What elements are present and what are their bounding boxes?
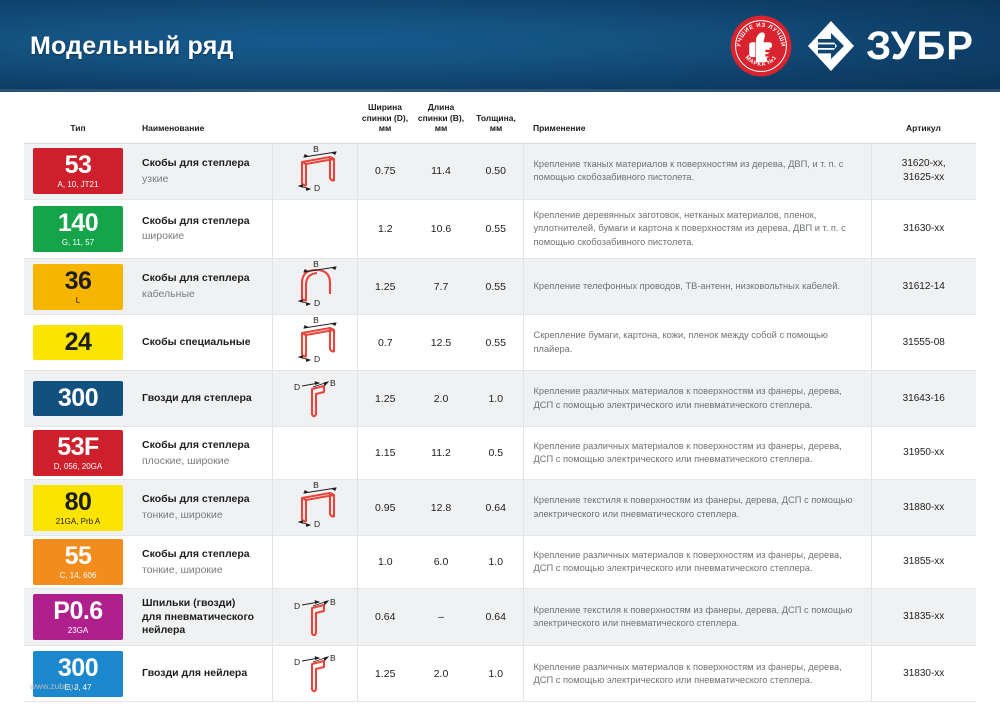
cell-thickness: 1.0 xyxy=(469,646,523,702)
svg-text:B: B xyxy=(330,597,336,607)
cell-article: 31612-14 xyxy=(871,259,976,315)
table-row[interactable]: 36LСкобы для степлеракабельные B D 1.257… xyxy=(24,259,976,315)
type-badge-aliases: A, 10, JT21 xyxy=(58,181,99,189)
type-badge-aliases: 21GA, Prb A xyxy=(56,518,100,526)
page-title: Модельный ряд xyxy=(30,32,234,61)
cell-diagram xyxy=(272,199,357,258)
cell-length: 7.7 xyxy=(413,259,469,315)
article-line: 31835-xx xyxy=(872,610,977,625)
product-name: Гвозди для степлера xyxy=(142,392,266,406)
col-header-thickness-line1: Толщина, xyxy=(473,113,519,124)
type-badge-number: 300 xyxy=(58,656,98,681)
table-body: 53A, 10, JT21Скобы для степлераузкие B D… xyxy=(24,143,976,702)
cell-length: – xyxy=(413,589,469,646)
cell-length: 2.0 xyxy=(413,646,469,702)
product-name-line: для пневматического xyxy=(142,611,266,625)
svg-text:B: B xyxy=(313,482,319,490)
cell-name: Гвозди для нейлера xyxy=(132,646,272,702)
table-row[interactable]: 300Гвозди для степлера D B 1.252.01.0Кре… xyxy=(24,371,976,427)
cell-article: 31880-xx xyxy=(871,480,976,536)
cell-width: 1.2 xyxy=(357,199,413,258)
svg-text:D: D xyxy=(314,298,320,307)
product-subtitle: широкие xyxy=(142,229,266,243)
article-line: 31630-xx xyxy=(872,222,977,237)
cell-thickness: 0.50 xyxy=(469,143,523,199)
cell-name: Шпильки (гвозди)для пневматическогонейле… xyxy=(132,589,272,646)
col-header-width-line1: Ширина xyxy=(361,102,409,113)
product-subtitle: кабельные xyxy=(142,287,266,301)
cell-width: 1.25 xyxy=(357,259,413,315)
product-name: Скобы для степлера xyxy=(142,439,266,453)
best-of-the-best-emblem-icon: ЛУЧШИЕ ИЗ ЛУЧШИХ МАРКА №1 xyxy=(730,15,792,77)
article-line: 31620-xx, xyxy=(872,157,977,172)
col-header-length-line1: Длина xyxy=(417,102,465,113)
type-badge-aliases: G, 11, 57 xyxy=(62,239,94,247)
cell-type: 300E, J, 47 xyxy=(24,646,132,702)
col-header-type: Тип xyxy=(24,92,132,143)
cell-length: 10.6 xyxy=(413,199,469,258)
table-row[interactable]: 24Скобы специальные B D 0.712.50.55Скреп… xyxy=(24,315,976,371)
type-badge: 24 xyxy=(33,325,123,360)
table-row[interactable]: 140G, 11, 57Скобы для степлераширокие1.2… xyxy=(24,199,976,258)
col-header-width: Ширина спинки (D), мм xyxy=(357,92,413,143)
type-badge-number: 80 xyxy=(65,490,92,515)
cell-type: 55C, 14, 606 xyxy=(24,536,132,589)
cell-length: 11.4 xyxy=(413,143,469,199)
type-badge: 53FD, 056, 20GA xyxy=(33,430,123,476)
cell-application: Крепление телефонных проводов, ТВ-антенн… xyxy=(523,259,871,315)
type-badge-number: 140 xyxy=(58,211,98,236)
cell-diagram: B D xyxy=(272,259,357,315)
type-badge-number: P0.6 xyxy=(53,599,102,624)
cell-thickness: 0.64 xyxy=(469,480,523,536)
svg-text:B: B xyxy=(313,146,319,154)
col-header-length-line2: спинки (B), мм xyxy=(417,113,465,134)
product-subtitle: тонкие, широкие xyxy=(142,563,266,577)
col-header-name: Наименование xyxy=(132,92,272,143)
table-row[interactable]: 53FD, 056, 20GAСкобы для степлераплоские… xyxy=(24,427,976,480)
cell-width: 1.0 xyxy=(357,536,413,589)
col-header-width-line2: спинки (D), мм xyxy=(361,113,409,134)
type-badge-number: 53 xyxy=(65,153,92,178)
cell-application: Крепление тканых материалов к поверхност… xyxy=(523,143,871,199)
type-badge-number: 55 xyxy=(65,544,92,569)
cell-type: 24 xyxy=(24,315,132,371)
type-badge: 140G, 11, 57 xyxy=(33,206,123,252)
cell-width: 1.25 xyxy=(357,646,413,702)
cell-type: 53FD, 056, 20GA xyxy=(24,427,132,480)
cell-width: 1.25 xyxy=(357,371,413,427)
article-line: 31950-xx xyxy=(872,446,977,461)
staple-round-icon: B D xyxy=(286,261,344,307)
cell-type: 53A, 10, JT21 xyxy=(24,143,132,199)
cell-type: 140G, 11, 57 xyxy=(24,199,132,258)
product-subtitle: узкие xyxy=(142,172,266,186)
cell-width: 0.95 xyxy=(357,480,413,536)
cell-length: 6.0 xyxy=(413,536,469,589)
cell-width: 0.75 xyxy=(357,143,413,199)
cell-article: 31620-xx,31625-xx xyxy=(871,143,976,199)
cell-name: Гвозди для степлера xyxy=(132,371,272,427)
article-line: 31830-xx xyxy=(872,667,977,682)
type-badge-aliases: C, 14, 606 xyxy=(60,572,97,580)
table-row[interactable]: 300E, J, 47Гвозди для нейлера D B 1.252.… xyxy=(24,646,976,702)
svg-text:D: D xyxy=(294,382,300,392)
product-name: Скобы для степлера xyxy=(142,548,266,562)
zubr-wordmark: ЗУБР xyxy=(806,19,974,73)
type-badge: 36L xyxy=(33,264,123,310)
cell-width: 0.7 xyxy=(357,315,413,371)
svg-text:B: B xyxy=(330,378,336,388)
product-name: Скобы для степлера xyxy=(142,272,266,286)
zubr-brand-text: ЗУБР xyxy=(866,26,974,66)
staple-square-icon: B D xyxy=(286,317,344,363)
cell-name: Скобы для степлеракабельные xyxy=(132,259,272,315)
footer-url: www.zubr.ru xyxy=(30,681,76,691)
svg-text:B: B xyxy=(313,317,319,325)
product-name: Гвозди для нейлера xyxy=(142,667,266,681)
cell-thickness: 1.0 xyxy=(469,371,523,427)
cell-length: 12.8 xyxy=(413,480,469,536)
table-row[interactable]: 55C, 14, 606Скобы для степлератонкие, ши… xyxy=(24,536,976,589)
svg-text:D: D xyxy=(314,354,320,363)
type-badge-number: 24 xyxy=(65,330,92,355)
cell-thickness: 0.64 xyxy=(469,589,523,646)
cell-application: Крепление текстиля к поверхностям из фан… xyxy=(523,480,871,536)
cell-diagram: D B xyxy=(272,589,357,646)
cell-diagram: D B xyxy=(272,371,357,427)
nail-icon: D B xyxy=(286,373,344,419)
cell-name: Скобы для степлератонкие, широкие xyxy=(132,480,272,536)
cell-type: P0.623GA xyxy=(24,589,132,646)
type-badge: 8021GA, Prb A xyxy=(33,485,123,531)
type-badge: 53A, 10, JT21 xyxy=(33,148,123,194)
product-name: Шпильки (гвозди)для пневматическогонейле… xyxy=(142,597,266,638)
svg-text:D: D xyxy=(294,601,300,611)
cell-article: 31830-xx xyxy=(871,646,976,702)
cell-type: 300 xyxy=(24,371,132,427)
cell-diagram: B D xyxy=(272,143,357,199)
cell-diagram: B D xyxy=(272,315,357,371)
type-badge-number: 53F xyxy=(57,435,99,460)
cell-name: Скобы для степлераплоские, широкие xyxy=(132,427,272,480)
page-header: Модельный ряд ЛУЧШИЕ ИЗ ЛУЧШИХ МАРКА №1 xyxy=(0,0,1000,92)
cell-thickness: 0.55 xyxy=(469,315,523,371)
cell-type: 36L xyxy=(24,259,132,315)
cell-thickness: 1.0 xyxy=(469,536,523,589)
cell-length: 12.5 xyxy=(413,315,469,371)
cell-name: Скобы специальные xyxy=(132,315,272,371)
product-name: Скобы для степлера xyxy=(142,157,266,171)
table-row[interactable]: 53A, 10, JT21Скобы для степлераузкие B D… xyxy=(24,143,976,199)
cell-article: 31855-xx xyxy=(871,536,976,589)
type-badge-aliases: L xyxy=(76,297,80,305)
cell-diagram xyxy=(272,427,357,480)
product-name: Скобы специальные xyxy=(142,336,266,350)
product-name-line: Шпильки (гвозди) xyxy=(142,597,266,611)
cell-diagram: D B xyxy=(272,646,357,702)
product-name: Скобы для степлера xyxy=(142,493,266,507)
cell-width: 0.64 xyxy=(357,589,413,646)
cell-thickness: 0.55 xyxy=(469,259,523,315)
zubr-arrow-icon xyxy=(806,19,856,73)
type-badge-number: 36 xyxy=(65,269,92,294)
catalog-page: Модельный ряд ЛУЧШИЕ ИЗ ЛУЧШИХ МАРКА №1 xyxy=(0,0,1000,707)
article-line: 31880-xx xyxy=(872,501,977,516)
cell-application: Крепление текстиля к поверхностям из фан… xyxy=(523,589,871,646)
cell-width: 1.15 xyxy=(357,427,413,480)
cell-article: 31950-xx xyxy=(871,427,976,480)
cell-article: 31630-xx xyxy=(871,199,976,258)
cell-type: 8021GA, Prb A xyxy=(24,480,132,536)
cell-length: 2.0 xyxy=(413,371,469,427)
table-header-row: Тип Наименование Ширина спинки (D), мм Д… xyxy=(24,92,976,143)
cell-article: 31835-xx xyxy=(871,589,976,646)
cell-length: 11.2 xyxy=(413,427,469,480)
type-badge: 55C, 14, 606 xyxy=(33,539,123,585)
cell-thickness: 0.55 xyxy=(469,199,523,258)
col-header-thickness-line2: мм xyxy=(473,123,519,134)
nail-icon: D B xyxy=(286,592,344,638)
svg-text:D: D xyxy=(314,183,320,192)
cell-name: Скобы для степлератонкие, широкие xyxy=(132,536,272,589)
cell-article: 31555-08 xyxy=(871,315,976,371)
svg-text:B: B xyxy=(313,261,319,269)
col-header-length: Длина спинки (B), мм xyxy=(413,92,469,143)
model-range-table: Тип Наименование Ширина спинки (D), мм Д… xyxy=(24,92,976,702)
cell-name: Скобы для степлераузкие xyxy=(132,143,272,199)
article-line: 31555-08 xyxy=(872,336,977,351)
cell-article: 31643-16 xyxy=(871,371,976,427)
table-row[interactable]: P0.623GAШпильки (гвозди)для пневматическ… xyxy=(24,589,976,646)
cell-application: Крепление различных материалов к поверхн… xyxy=(523,646,871,702)
svg-text:D: D xyxy=(314,519,320,528)
cell-application: Крепление различных материалов к поверхн… xyxy=(523,371,871,427)
product-name: Скобы для степлера xyxy=(142,215,266,229)
svg-text:D: D xyxy=(294,657,300,667)
product-subtitle: плоские, широкие xyxy=(142,454,266,468)
cell-diagram xyxy=(272,536,357,589)
article-line: 31612-14 xyxy=(872,280,977,295)
spec-table-wrap: Тип Наименование Ширина спинки (D), мм Д… xyxy=(0,92,1000,702)
cell-thickness: 0.5 xyxy=(469,427,523,480)
nail-icon: D B xyxy=(286,648,344,694)
cell-application: Крепление различных материалов к поверхн… xyxy=(523,536,871,589)
type-badge-aliases: 23GA xyxy=(68,627,88,635)
cell-name: Скобы для степлераширокие xyxy=(132,199,272,258)
cell-application: Крепление различных материалов к поверхн… xyxy=(523,427,871,480)
table-row[interactable]: 8021GA, Prb AСкобы для степлератонкие, ш… xyxy=(24,480,976,536)
svg-text:B: B xyxy=(330,653,336,663)
article-line: 31855-xx xyxy=(872,555,977,570)
staple-square-icon: B D xyxy=(286,482,344,528)
cell-diagram: B D xyxy=(272,480,357,536)
product-name-line: нейлера xyxy=(142,624,266,638)
staple-square-icon: B D xyxy=(286,146,344,192)
brand-lockup: ЛУЧШИЕ ИЗ ЛУЧШИХ МАРКА №1 xyxy=(730,15,974,77)
col-header-thickness: Толщина, мм xyxy=(469,92,523,143)
product-subtitle: тонкие, широкие xyxy=(142,508,266,522)
col-header-diagram xyxy=(272,92,357,143)
type-badge: 300 xyxy=(33,381,123,416)
col-header-application: Применение xyxy=(523,92,871,143)
col-header-article: Артикул xyxy=(871,92,976,143)
article-line: 31643-16 xyxy=(872,392,977,407)
type-badge-number: 300 xyxy=(58,386,98,411)
type-badge: P0.623GA xyxy=(33,594,123,640)
article-line: 31625-xx xyxy=(872,171,977,186)
type-badge-aliases: D, 056, 20GA xyxy=(54,463,102,471)
cell-application: Скрепление бумаги, картона, кожи, пленок… xyxy=(523,315,871,371)
cell-application: Крепление деревянных заготовок, нетканых… xyxy=(523,199,871,258)
